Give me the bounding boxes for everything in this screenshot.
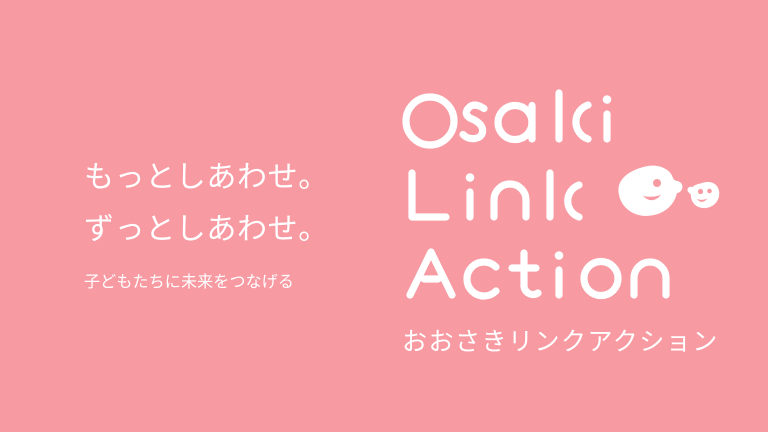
small-blob-mascot [687,182,719,208]
logo-word-link [402,163,592,235]
large-blob-mascot [618,166,682,216]
mascot-pair [610,162,722,224]
logo-word-action [402,241,674,313]
logo-line-action [402,238,742,316]
tagline-line-2: ずっとしあわせ。 [84,204,384,256]
logo-line-osaki [402,82,742,160]
logo-word-osaki [402,85,614,157]
logo-line-link [402,160,742,238]
tagline-block: もっとしあわせ。 ずっとしあわせ。 子どもたちに未来をつなげる [84,152,384,292]
tagline-subtitle: 子どもたちに未来をつなげる [84,268,384,292]
logo-lockup: おおさきリンクアクション [402,82,742,358]
tagline-line-1: もっとしあわせ。 [84,152,384,204]
poster-canvas: もっとしあわせ。 ずっとしあわせ。 子どもたちに未来をつなげる [0,0,768,432]
logo-reading-katakana: おおさきリンクアクション [402,322,742,358]
